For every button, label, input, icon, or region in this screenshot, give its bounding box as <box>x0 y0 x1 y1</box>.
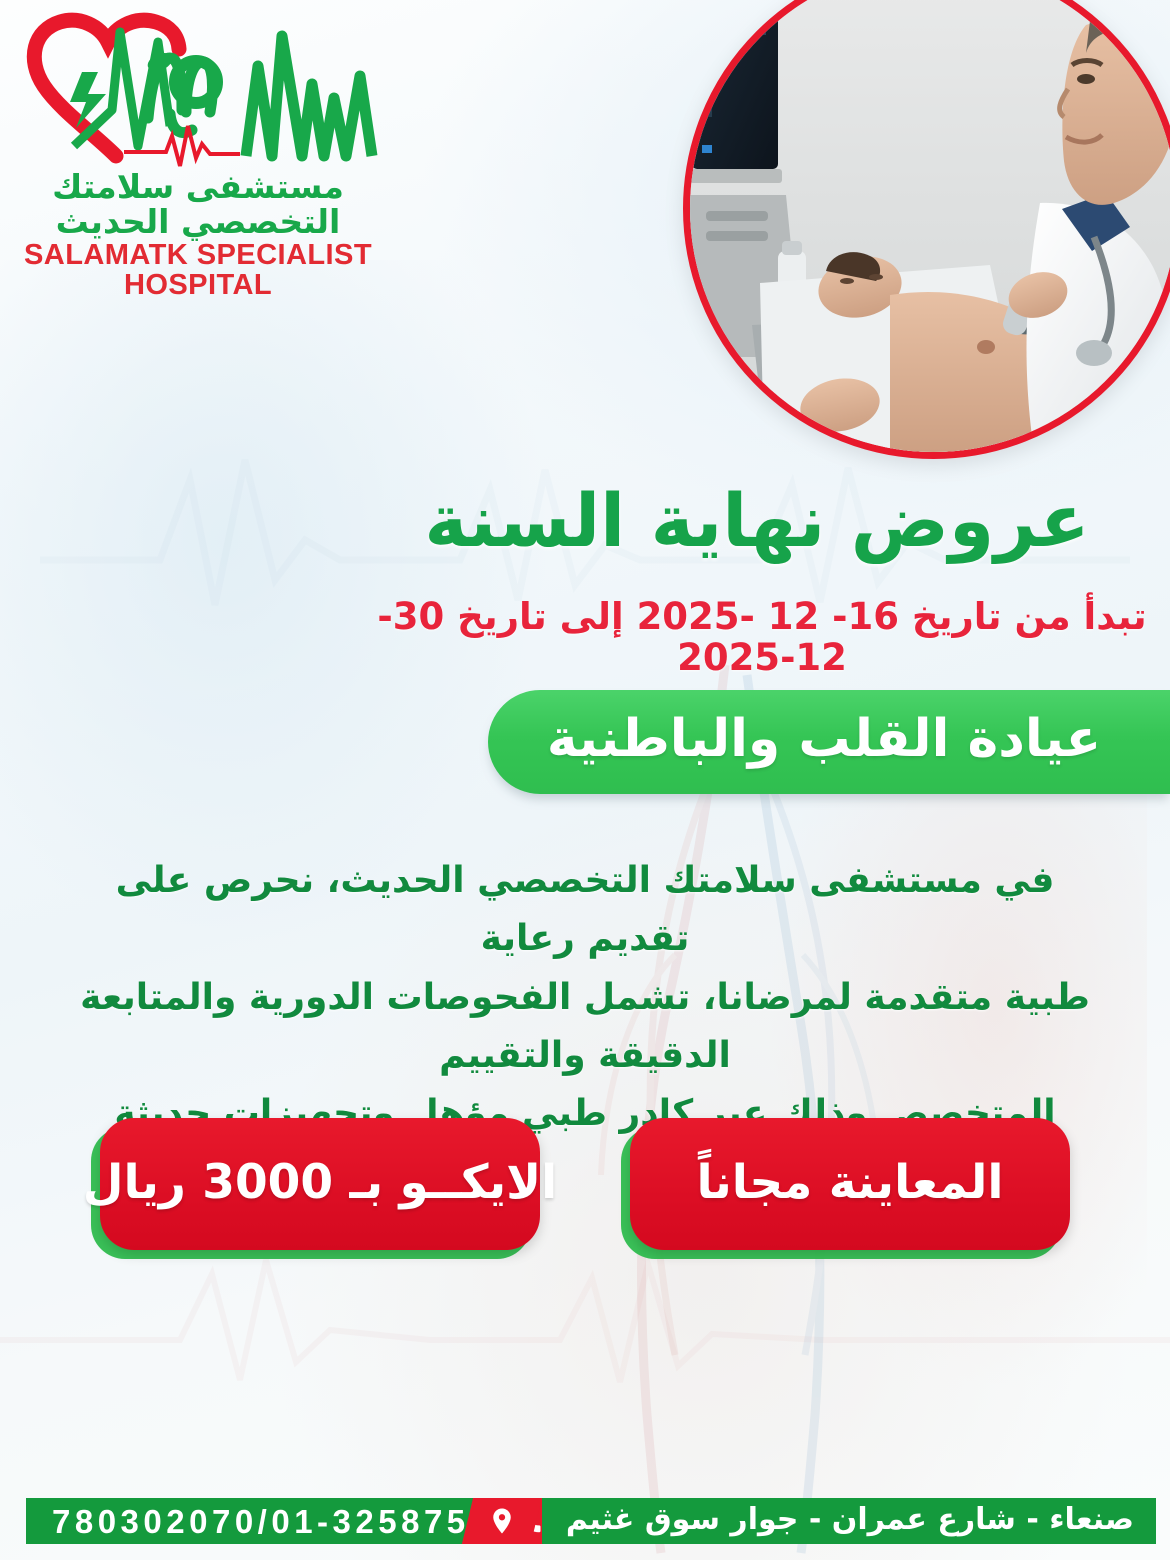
clinic-banner: عيادة القلب والباطنية <box>488 690 1170 794</box>
poster-root: مستشفى سلامتك التخصصي الحديث SALAMATK SP… <box>0 0 1170 1560</box>
offer-free-examination[interactable]: المعاينة مجاناً <box>630 1118 1070 1250</box>
address-text: صنعاء - شارع عمران - جوار سوق غثيم <box>566 1505 1134 1538</box>
footer-bar: 780302070/01-325875 صنعاء - شارع عمران -… <box>0 1500 1170 1552</box>
map-pin-icon <box>487 1506 517 1536</box>
promo-dates: تبدأ من تاريخ 16- 12 -2025 إلى تاريخ 30-… <box>362 596 1162 679</box>
phone-number: 780302070/01-325875 <box>52 1505 470 1538</box>
offer-echo-price[interactable]: الايكــو بـ 3000 ريال <box>100 1118 540 1250</box>
clinic-banner-label: عيادة القلب والباطنية <box>523 713 1135 771</box>
doctor-ultrasound-illustration-icon <box>690 0 1170 452</box>
offer-free-examination-label: المعاينة مجاناً <box>696 1159 1003 1210</box>
offer-echo-price-pill[interactable]: الايكــو بـ 3000 ريال <box>100 1118 540 1250</box>
address-bar[interactable]: صنعاء - شارع عمران - جوار سوق غثيم <box>542 1498 1156 1544</box>
hospital-name-english: SALAMATK SPECIALIST HOSPITAL <box>4 241 392 301</box>
phone-bar[interactable]: 780302070/01-325875 <box>26 1498 492 1544</box>
promo-headline: عروض نهاية السنة <box>362 484 1152 560</box>
doctor-ultrasound-photo <box>683 0 1170 459</box>
offers-row: المعاينة مجاناً الايكــو بـ 3000 ريال <box>0 1118 1170 1258</box>
body-line-1: في مستشفى سلامتك التخصصي الحديث، نحرص عل… <box>78 852 1092 969</box>
hospital-name-arabic: مستشفى سلامتك التخصصي الحديث <box>8 170 388 239</box>
hospital-logo: مستشفى سلامتك التخصصي الحديث SALAMATK SP… <box>8 6 388 301</box>
heart-ecg-logo-icon <box>20 6 388 174</box>
footer-address-group[interactable]: صنعاء - شارع عمران - جوار سوق غثيم <box>462 1498 1154 1544</box>
body-line-2: طبية متقدمة لمرضانا، تشمل الفحوصات الدور… <box>78 969 1092 1086</box>
body-paragraph: في مستشفى سلامتك التخصصي الحديث، نحرص عل… <box>78 852 1092 1144</box>
offer-free-examination-pill[interactable]: المعاينة مجاناً <box>630 1118 1070 1250</box>
offer-echo-price-label: الايكــو بـ 3000 ريال <box>83 1159 557 1210</box>
location-icon-badge <box>462 1498 542 1544</box>
